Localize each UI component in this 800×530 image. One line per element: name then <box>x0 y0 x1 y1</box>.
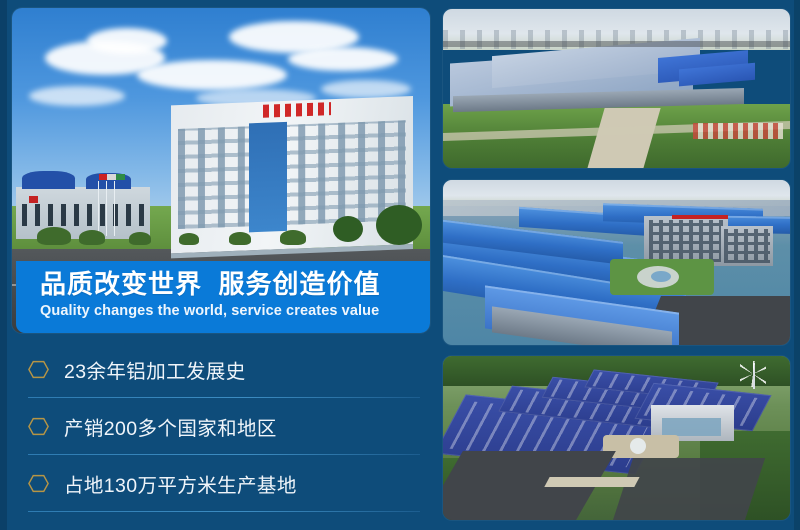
feature-item-1[interactable]: 23余年铝加工发展史 <box>10 341 430 398</box>
hexagon-bullet-icon <box>28 416 49 437</box>
feature-list: 23余年铝加工发展史 产销200多个国家和地区 占地130万平方米生产基地 <box>10 341 430 512</box>
feature-item-3[interactable]: 占地130万平方米生产基地 <box>10 455 430 512</box>
page-edge-right <box>794 0 800 530</box>
company-headquarters-photo: 品质改变世界 服务创造价值 Quality changes the world,… <box>12 8 430 333</box>
feature-item-1-label: 23余年铝加工发展史 <box>64 355 246 384</box>
banner-title-cn: 品质改变世界 服务创造价值 <box>40 268 430 300</box>
caption-banner: 品质改变世界 服务创造价值 Quality changes the world,… <box>16 261 430 333</box>
feature-item-2-label: 产销200多个国家和地区 <box>64 412 277 441</box>
building-sign <box>263 102 331 118</box>
page-root: 品质改变世界 服务创造价值 Quality changes the world,… <box>0 0 800 530</box>
feature-separator-3 <box>28 511 420 512</box>
page-edge-left <box>0 0 7 530</box>
banner-subtitle-en: Quality changes the world, service creat… <box>40 300 430 322</box>
hexagon-bullet-icon <box>28 359 49 380</box>
aerial-factory-photo-3 <box>443 356 790 520</box>
aerial-factory-photo-1 <box>443 9 790 168</box>
right-column <box>443 0 790 530</box>
hexagon-bullet-icon <box>28 473 49 494</box>
feature-item-2[interactable]: 产销200多个国家和地区 <box>10 398 430 455</box>
feature-item-3-label: 占地130万平方米生产基地 <box>64 469 297 498</box>
left-column: 品质改变世界 服务创造价值 Quality changes the world,… <box>10 6 430 526</box>
aerial-factory-photo-2 <box>443 180 790 345</box>
